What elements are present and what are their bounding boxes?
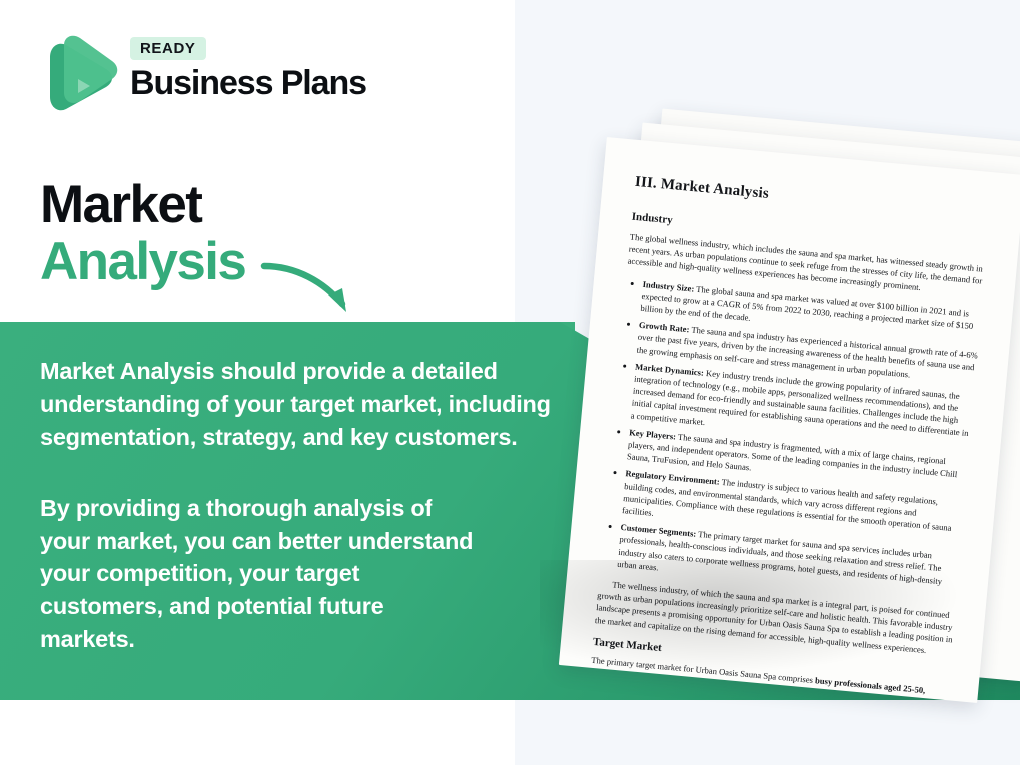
document-stack[interactable]: III. Market Analysis Industry The global… xyxy=(520,85,1020,685)
panel-paragraph-2: By providing a thorough analysis of your… xyxy=(40,492,480,656)
ready-badge: READY xyxy=(130,37,206,60)
panel-copy: Market Analysis should provide a detaile… xyxy=(40,355,560,656)
brand-text-block: READY Business Plans xyxy=(130,37,366,102)
panel-paragraph-1: Market Analysis should provide a detaile… xyxy=(40,355,560,454)
document-bullet-list: Industry Size: The global sauna and spa … xyxy=(600,276,983,601)
document-content: III. Market Analysis Industry The global… xyxy=(559,137,1020,703)
document-sheet-front[interactable]: III. Market Analysis Industry The global… xyxy=(559,137,1020,703)
play-triangles-logo-icon xyxy=(40,33,118,115)
page-title: Market Analysis xyxy=(40,178,245,288)
brand-name: Business Plans xyxy=(130,66,366,102)
slide-canvas: READY Business Plans Market Analysis Mar… xyxy=(0,0,1020,765)
page-title-line1: Market xyxy=(40,178,245,231)
brand-logo[interactable]: READY Business Plans xyxy=(40,33,370,118)
curved-arrow-down-right-icon xyxy=(258,256,368,326)
page-title-line2: Analysis xyxy=(40,235,245,288)
